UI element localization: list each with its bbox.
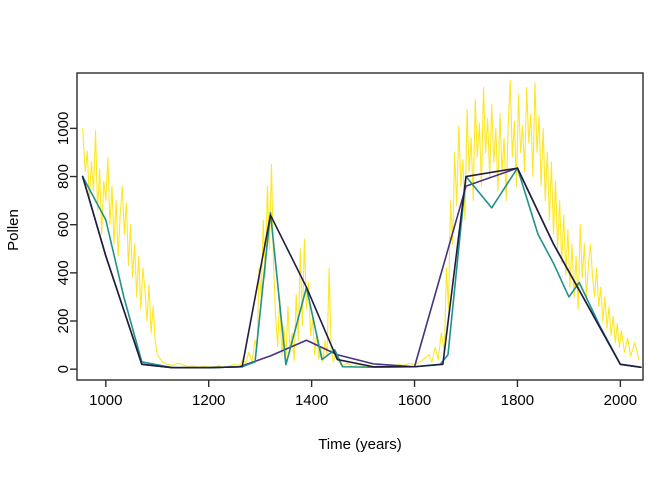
y-tick-label: 200: [55, 308, 72, 333]
x-tick-label: 1600: [398, 392, 431, 409]
x-tick-label: 1000: [89, 392, 122, 409]
y-tick-label: 400: [55, 260, 72, 285]
y-axis-title: Pollen: [5, 209, 22, 251]
x-tick-label: 1200: [192, 392, 225, 409]
y-tick-label: 600: [55, 212, 72, 237]
figure-root: 1000120014001600180020000200400600800100…: [0, 0, 672, 480]
x-axis-title: Time (years): [318, 436, 402, 453]
x-tick-label: 1400: [295, 392, 328, 409]
x-tick-label: 1800: [501, 392, 534, 409]
y-tick-label: 800: [55, 164, 72, 189]
y-tick-label: 0: [55, 365, 72, 373]
y-tick-label: 1000: [55, 112, 72, 145]
x-tick-label: 2000: [604, 392, 637, 409]
pollen-time-chart: 1000120014001600180020000200400600800100…: [0, 0, 672, 480]
